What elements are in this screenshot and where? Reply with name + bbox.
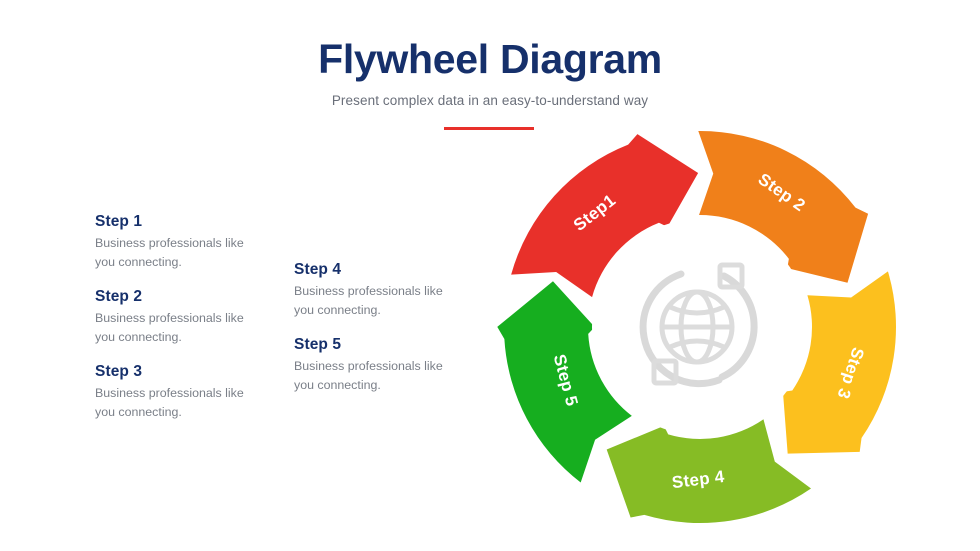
list-item: Step 5 Business professionals like you c… (294, 335, 444, 394)
step-description: Business professionals like you connecti… (294, 357, 444, 394)
step-description: Business professionals like you connecti… (95, 234, 245, 271)
step-description: Business professionals like you connecti… (294, 282, 444, 319)
page-subtitle: Present complex data in an easy-to-under… (0, 91, 980, 111)
list-item: Step 4 Business professionals like you c… (294, 260, 444, 319)
step-description: Business professionals like you connecti… (95, 309, 245, 346)
slide-canvas: Flywheel Diagram Present complex data in… (0, 0, 980, 551)
step-heading: Step 1 (95, 212, 245, 232)
step-heading: Step 2 (95, 287, 245, 307)
page-title: Flywheel Diagram (0, 36, 980, 82)
list-item: Step 3 Business professionals like you c… (95, 362, 245, 421)
steps-column-left: Step 1 Business professionals like you c… (95, 212, 245, 421)
steps-column-right: Step 4 Business professionals like you c… (294, 260, 444, 394)
step-heading: Step 4 (294, 260, 444, 280)
list-item: Step 2 Business professionals like you c… (95, 287, 245, 346)
flywheel-diagram: Step1 Step 2 Step 3 Step 4 Step 5 (485, 122, 920, 542)
step-heading: Step 3 (95, 362, 245, 382)
step-heading: Step 5 (294, 335, 444, 355)
slide-header: Flywheel Diagram Present complex data in… (0, 36, 980, 111)
step-description: Business professionals like you connecti… (95, 384, 245, 421)
list-item: Step 1 Business professionals like you c… (95, 212, 245, 271)
